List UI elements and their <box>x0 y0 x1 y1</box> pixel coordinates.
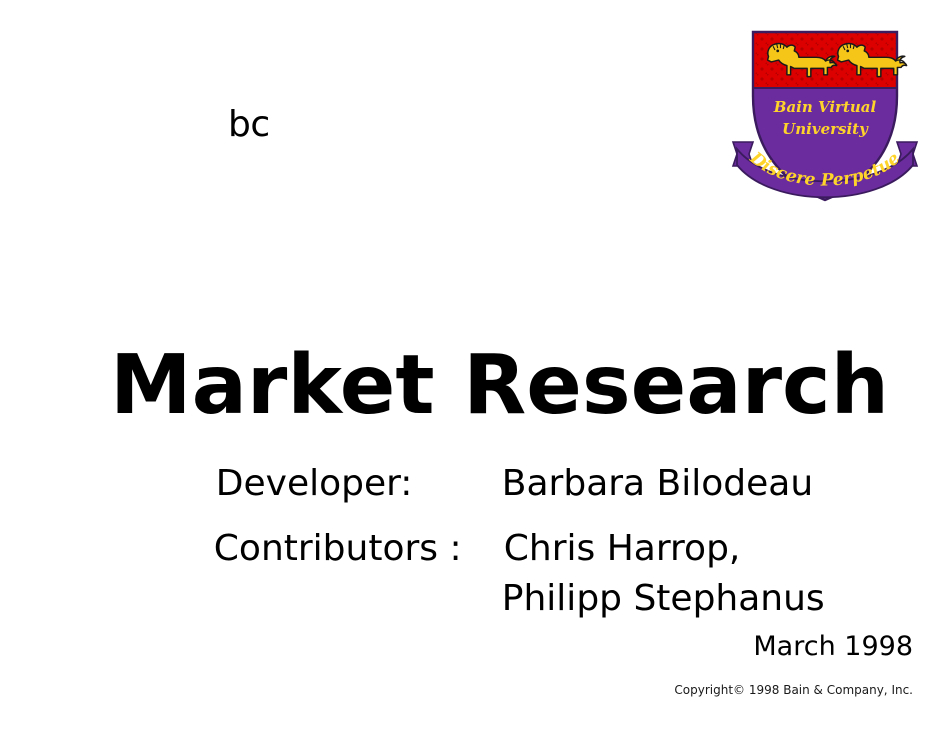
crest-graphic: Bain Virtual University Discere Perpetue <box>727 24 923 204</box>
credit-contributors-value-line2: Philipp Stephanus <box>502 578 825 619</box>
bc-wordmark: bc <box>228 107 270 143</box>
bain-virtual-university-crest: Bain Virtual University Discere Perpetue <box>727 24 923 204</box>
crest-name-line1: Bain Virtual <box>773 98 877 116</box>
slide-date: March 1998 <box>753 633 913 660</box>
page-title: Market Research <box>110 345 889 427</box>
crest-name-line2: University <box>782 120 869 138</box>
slide-canvas: Bain Virtual University Discere Perpetue… <box>0 0 950 735</box>
copyright-notice: Copyright© 1998 Bain & Company, Inc. <box>674 684 913 696</box>
